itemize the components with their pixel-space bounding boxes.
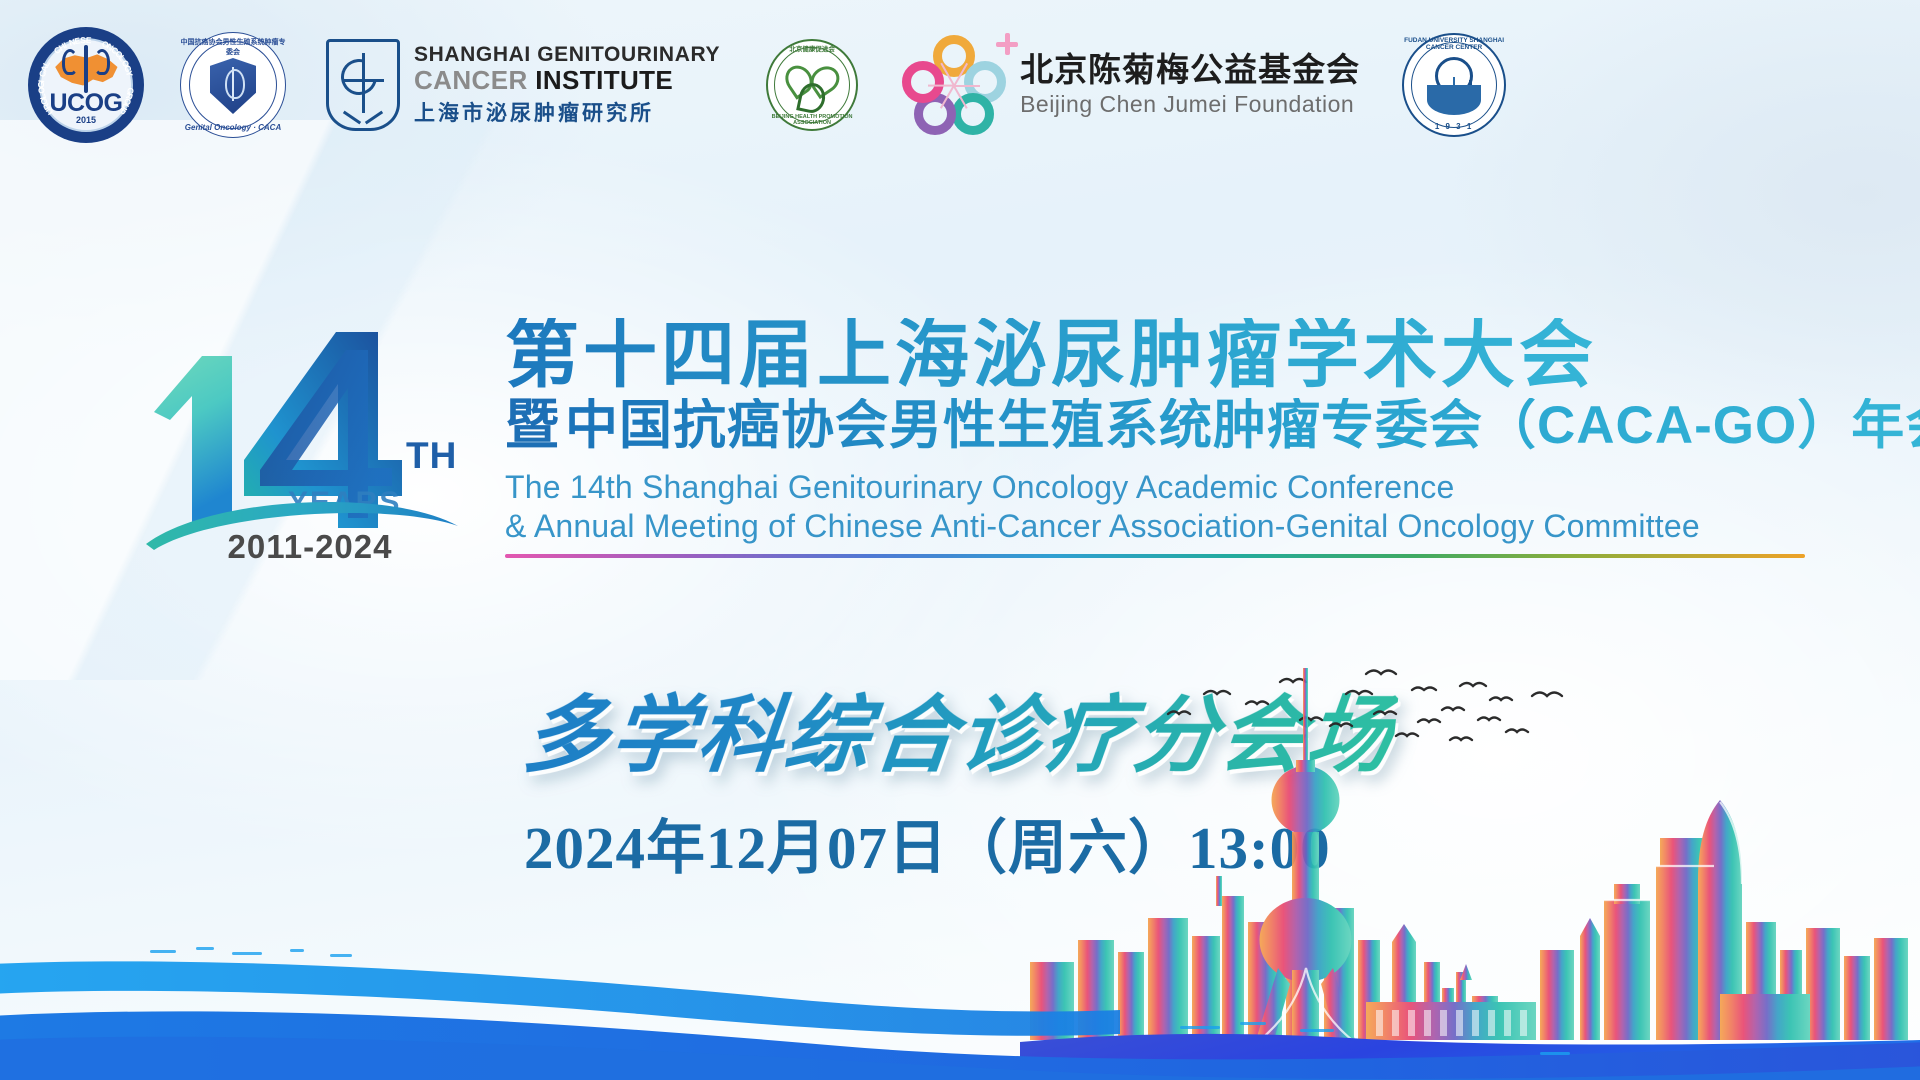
sgci-line-2b: INSTITUTE: [535, 65, 673, 95]
conference-title-en: The 14th Shanghai Genitourinary Oncology…: [505, 468, 1845, 546]
session-datetime: 2024年12月07日（周六）13:00: [524, 800, 1331, 885]
sgci-line-3: 上海市泌尿肿瘤研究所: [414, 97, 720, 127]
conference-title-cn-line1: 第十四届上海泌尿肿瘤学术大会: [505, 318, 1845, 392]
conference-title-ji-char: 暨: [505, 398, 559, 452]
conference-title-cn-line2: 中国抗癌协会男性生殖系统肿瘤专委会（CACA-GO）年会: [565, 398, 1920, 454]
fudan-seal-icon: FUDAN UNIVERSITY SHANGHAI CANCER CENTER …: [1402, 33, 1506, 137]
ucog-arc-text: UROLOGICAL CHINESE ONCOLOGY GROUP: [28, 27, 144, 143]
sgci-shield-icon: [326, 39, 400, 131]
sgci-line-1: SHANGHAI GENITOURINARY: [414, 43, 720, 67]
sgci-line-2a: CANCER: [414, 65, 528, 95]
ucog-seal-icon: UCOG 2015 UROLOGICAL CHINESE ONCOLOGY GR…: [28, 27, 144, 143]
fudan-arc-top: FUDAN UNIVERSITY SHANGHAI CANCER CENTER: [1402, 37, 1506, 51]
logo-beijing-health-promotion-association: 北京健康促进会 BEIJING HEALTH PROMOTION ASSOCIA…: [720, 39, 858, 131]
conference-title-block: 第十四届上海泌尿肿瘤学术大会 暨 中国抗癌协会男性生殖系统肿瘤专委会（CACA-…: [505, 318, 1845, 558]
flying-birds-illustration: [1160, 660, 1590, 780]
bhpa-arc-top: 北京健康促进会: [766, 43, 858, 53]
svg-text:TH: TH: [406, 435, 457, 476]
conference-title-en-line2: & Annual Meeting of Chinese Anti-Cancer …: [505, 507, 1845, 546]
plum-blossom-icon: [902, 35, 1006, 135]
caca-arc-bottom: Genital Oncology · CACA: [180, 123, 286, 132]
rainbow-divider: [505, 554, 1805, 558]
logo-caca-genital-oncology: 中国抗癌协会男性生殖系统肿瘤专委会 Genital Oncology · CAC…: [144, 32, 286, 138]
fudan-year: 1 9 3 1: [1402, 122, 1506, 131]
anniversary-mark: TH YEARS 2011-2024: [140, 300, 480, 590]
caca-arc-top: 中国抗癌协会男性生殖系统肿瘤专委会: [180, 37, 286, 57]
cjm-name-en: Beijing Chen Jumei Foundation: [1020, 91, 1360, 119]
clover-seal-icon: 北京健康促进会 BEIJING HEALTH PROMOTION ASSOCIA…: [766, 39, 858, 131]
plus-accent-icon: [996, 33, 1018, 55]
anniversary-year-range: 2011-2024: [140, 528, 480, 566]
logo-fudan-university-shanghai-cancer-center: FUDAN UNIVERSITY SHANGHAI CANCER CENTER …: [1360, 33, 1506, 137]
sponsor-logo-bar: UCOG 2015 UROLOGICAL CHINESE ONCOLOGY GR…: [0, 0, 1920, 170]
logo-shanghai-genitourinary-cancer-institute: SHANGHAI GENITOURINARY CANCER INSTITUTE …: [326, 39, 720, 131]
bhpa-arc-bottom: BEIJING HEALTH PROMOTION ASSOCIATION: [766, 114, 858, 126]
caca-seal-icon: 中国抗癌协会男性生殖系统肿瘤专委会 Genital Oncology · CAC…: [180, 32, 286, 138]
logo-beijing-chen-jumei-foundation: 北京陈菊梅公益基金会 Beijing Chen Jumei Foundation: [902, 35, 1360, 135]
cjm-name-cn: 北京陈菊梅公益基金会: [1020, 51, 1360, 89]
conference-title-en-line1: The 14th Shanghai Genitourinary Oncology…: [505, 468, 1845, 507]
anniversary-14-graphic: TH YEARS: [140, 300, 480, 550]
logo-ucog: UCOG 2015 UROLOGICAL CHINESE ONCOLOGY GR…: [28, 27, 144, 143]
